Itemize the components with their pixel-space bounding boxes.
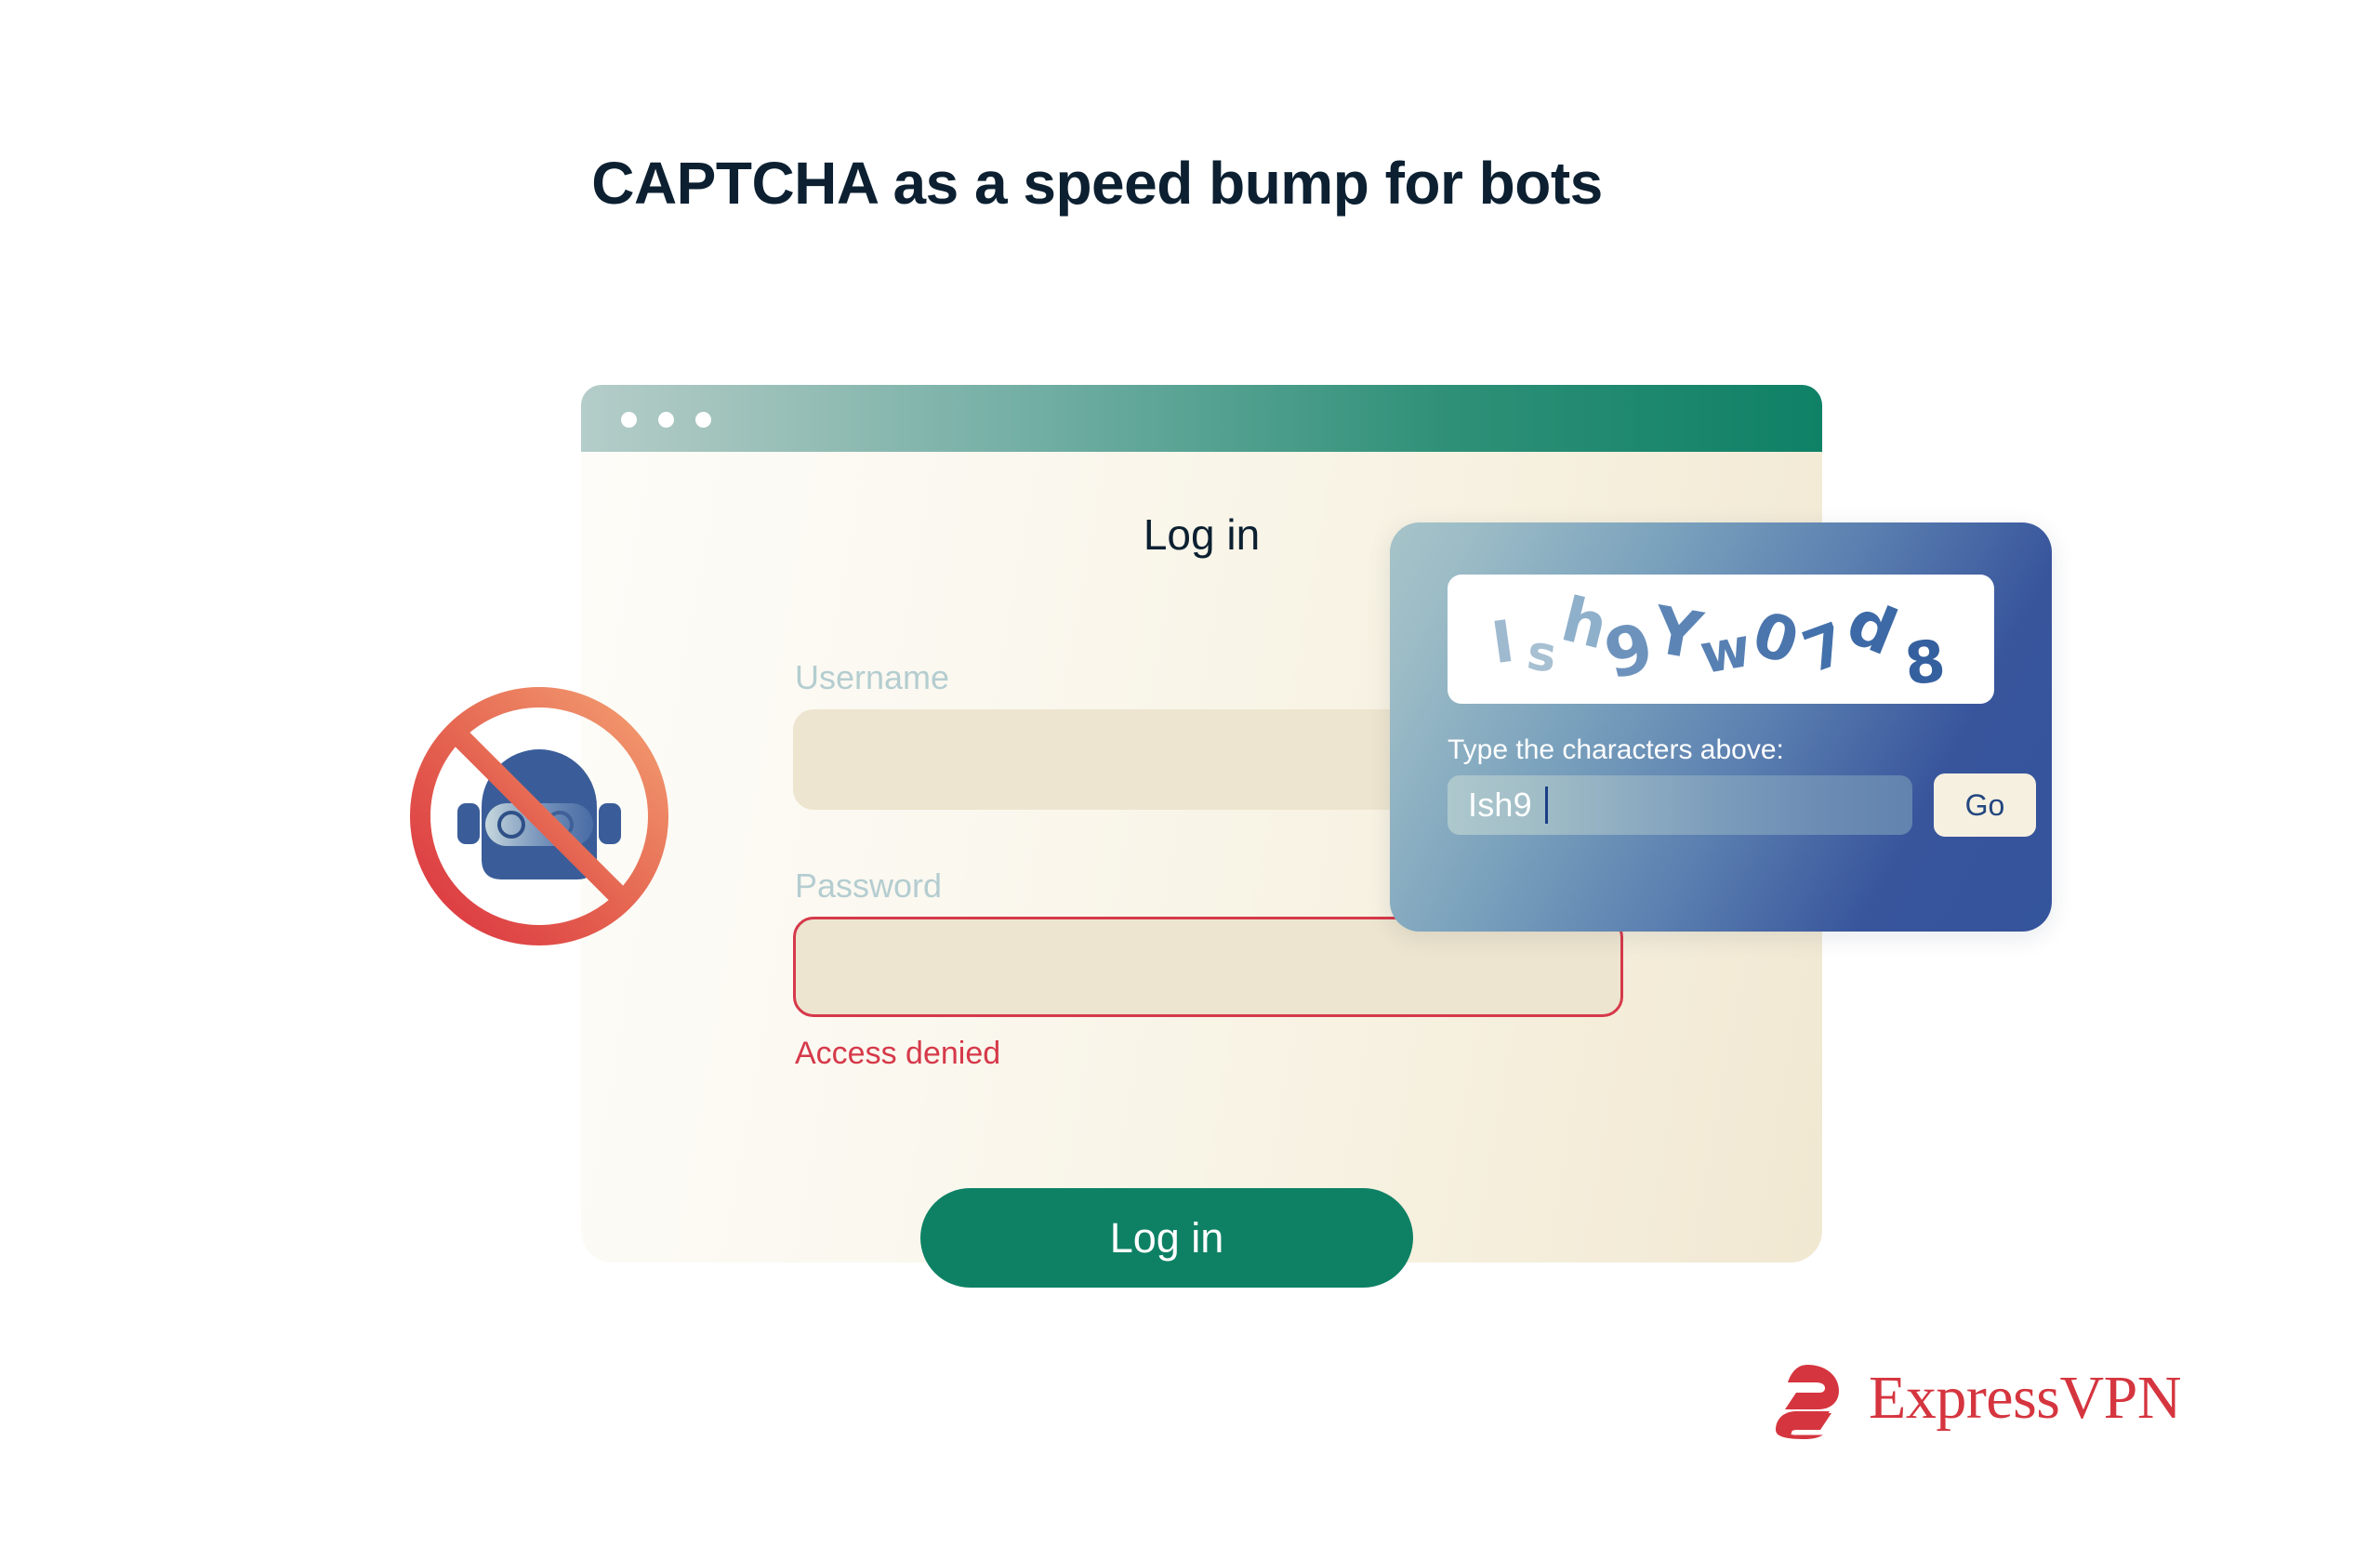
captcha-glyph-9: 8 bbox=[1901, 627, 1949, 698]
window-controls bbox=[621, 412, 711, 428]
captcha-go-button[interactable]: Go bbox=[1934, 773, 2036, 837]
prohibition-sign-icon bbox=[420, 697, 658, 935]
login-button[interactable]: Log in bbox=[920, 1188, 1413, 1288]
no-bots-svg bbox=[400, 677, 679, 956]
page-title: CAPTCHA as a speed bump for bots bbox=[0, 151, 2380, 216]
minimize-dot-icon[interactable] bbox=[658, 412, 674, 428]
captcha-prompt-label: Type the characters above: bbox=[1448, 734, 1784, 766]
access-denied-error: Access denied bbox=[795, 1036, 1000, 1072]
captcha-dialog: Ish9Yw07d8 Type the characters above: Is… bbox=[1390, 522, 2052, 932]
text-caret bbox=[1545, 787, 1548, 824]
captcha-answer-value: Ish9 bbox=[1448, 786, 1532, 825]
captcha-answer-input[interactable]: Ish9 bbox=[1448, 775, 1912, 835]
captcha-glyph-6: 0 bbox=[1744, 598, 1806, 679]
captcha-glyph-8: d bbox=[1837, 586, 1907, 670]
expressvpn-wordmark: ExpressVPN bbox=[1869, 1368, 2181, 1429]
close-dot-icon[interactable] bbox=[621, 412, 637, 428]
expressvpn-logo[interactable]: ExpressVPN bbox=[1766, 1357, 2181, 1439]
username-label: Username bbox=[795, 658, 949, 697]
browser-title-bar bbox=[581, 385, 1822, 452]
captcha-glyph-5: w bbox=[1696, 615, 1756, 686]
password-input[interactable] bbox=[793, 917, 1623, 1017]
no-bots-icon bbox=[400, 677, 679, 956]
captcha-challenge-image: Ish9Yw07d8 bbox=[1448, 575, 1994, 704]
captcha-glyph-0: I bbox=[1487, 607, 1518, 678]
captcha-glyph-1: s bbox=[1524, 625, 1560, 684]
illustration-canvas: CAPTCHA as a speed bump for bots Log in … bbox=[0, 0, 2380, 1560]
password-label: Password bbox=[795, 866, 942, 906]
captcha-distorted-text: Ish9Yw07d8 bbox=[1448, 575, 1994, 704]
maximize-dot-icon[interactable] bbox=[695, 412, 711, 428]
expressvpn-mark-icon bbox=[1766, 1357, 1848, 1439]
